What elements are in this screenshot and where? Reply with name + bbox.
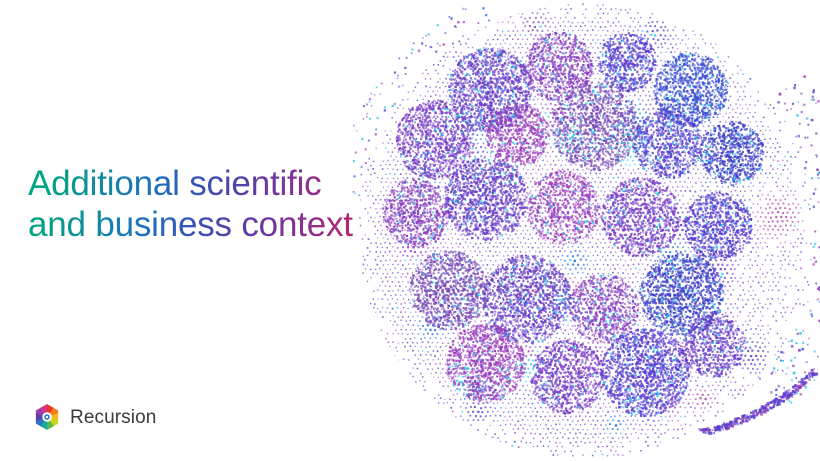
brand-wordmark: Recursion	[70, 408, 156, 427]
scatter-points-layer	[359, 3, 812, 456]
presentation-slide: Additional scientific and business conte…	[0, 0, 820, 461]
recursion-hexagon-logo-icon	[33, 403, 61, 431]
page-title: Additional scientific and business conte…	[28, 163, 408, 245]
scatter-plot-canvas	[352, 0, 820, 461]
cell-map-umap-scatter	[352, 0, 820, 461]
brand-logo-lockup: Recursion	[33, 403, 156, 431]
